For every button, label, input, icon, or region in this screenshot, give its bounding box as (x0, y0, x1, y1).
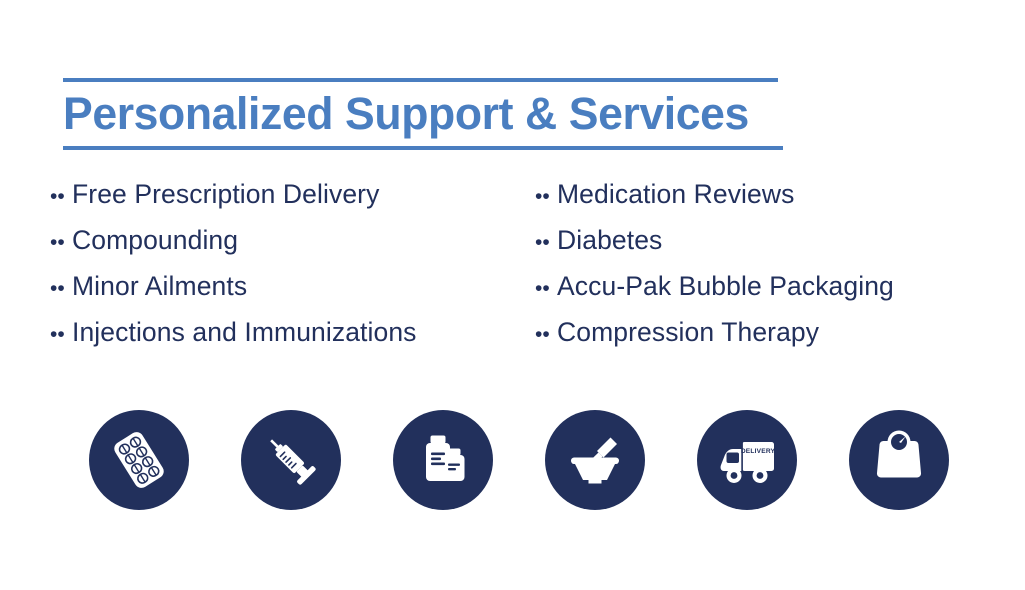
list-item: • Free Prescription Delivery (50, 178, 535, 224)
icon-badge-medicine-bottles (393, 410, 493, 510)
bullet-icon: • (50, 227, 72, 259)
delivery-truck-icon: DELIVERY (713, 426, 781, 494)
medicine-bottles-icon (412, 429, 474, 491)
syringe-icon (260, 429, 322, 491)
bullet-icon: • (50, 181, 72, 213)
service-label: Accu-Pak Bubble Packaging (557, 270, 894, 302)
mortar-and-pestle-icon (563, 428, 627, 492)
list-item: • Compounding (50, 224, 535, 270)
icon-badge-blister-pack (89, 410, 189, 510)
list-item: • Minor Ailments (50, 270, 535, 316)
bullet-icon: • (50, 273, 72, 305)
bullet-icon: • (535, 181, 557, 213)
bullet-icon: • (50, 319, 72, 351)
page-title: Personalized Support & Services (63, 85, 776, 143)
service-label: Medication Reviews (557, 178, 794, 210)
bullet-icon: • (535, 227, 557, 259)
icon-badge-weight-scale (849, 410, 949, 510)
list-item: • Medication Reviews (535, 178, 1005, 224)
bullet-icon: • (535, 273, 557, 305)
services-lists: • Free Prescription Delivery • Compoundi… (50, 178, 1010, 362)
heading-block: Personalized Support & Services (63, 78, 783, 150)
title-bottom-rule (63, 146, 783, 150)
service-label: Compounding (72, 224, 238, 256)
icon-badge-syringe (241, 410, 341, 510)
service-label: Diabetes (557, 224, 662, 256)
bullet-icon: • (535, 319, 557, 351)
service-label: Injections and Immunizations (72, 316, 417, 348)
service-label: Minor Ailments (72, 270, 247, 302)
icon-row: DELIVERY (89, 410, 949, 510)
services-column-right: • Medication Reviews • Diabetes • Accu-P… (535, 178, 1005, 362)
services-column-left: • Free Prescription Delivery • Compoundi… (50, 178, 535, 362)
truck-delivery-label: DELIVERY (741, 448, 776, 455)
weight-scale-icon (868, 429, 930, 491)
list-item: • Compression Therapy (535, 316, 1005, 362)
slide-canvas: Personalized Support & Services • Free P… (0, 0, 1025, 590)
icon-badge-delivery-truck: DELIVERY (697, 410, 797, 510)
service-label: Compression Therapy (557, 316, 819, 348)
list-item: • Injections and Immunizations (50, 316, 535, 362)
list-item: • Diabetes (535, 224, 1005, 270)
icon-badge-mortar-and-pestle (545, 410, 645, 510)
list-item: • Accu-Pak Bubble Packaging (535, 270, 1005, 316)
service-label: Free Prescription Delivery (72, 178, 379, 210)
blister-pack-icon (108, 429, 170, 491)
title-top-rule (63, 78, 778, 82)
